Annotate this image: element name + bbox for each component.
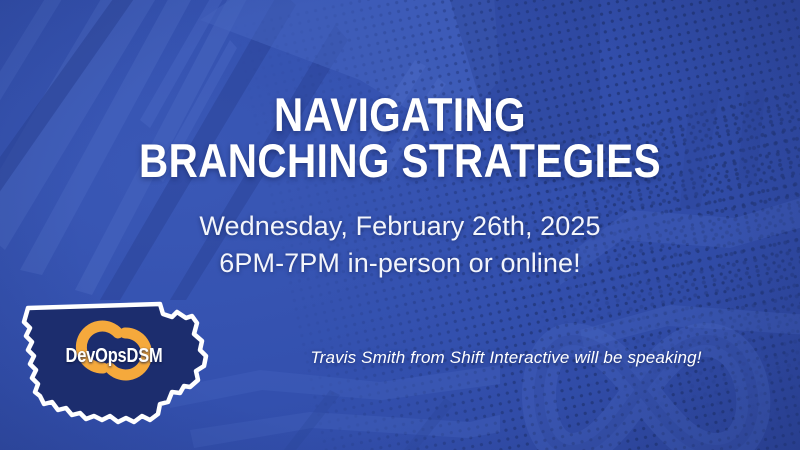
event-title-line-2: BRANCHING STRATEGIES xyxy=(56,138,744,184)
event-title: NAVIGATING BRANCHING STRATEGIES xyxy=(0,92,800,184)
speaker-text: Travis Smith from Shift Interactive will… xyxy=(230,348,782,368)
event-banner: NAVIGATING BRANCHING STRATEGIES Wednesda… xyxy=(0,0,800,450)
iowa-outline-shape xyxy=(24,304,206,422)
event-date: Wednesday, February 26th, 2025 xyxy=(0,208,800,245)
speaker-announcement: Travis Smith from Shift Interactive will… xyxy=(230,348,782,368)
devopsdsm-logo: DevOpsDSM xyxy=(14,292,214,440)
banner-content: NAVIGATING BRANCHING STRATEGIES Wednesda… xyxy=(0,0,800,450)
event-title-line-1: NAVIGATING xyxy=(56,92,744,138)
event-time-format: 6PM-7PM in-person or online! xyxy=(0,245,800,282)
event-datetime: Wednesday, February 26th, 2025 6PM-7PM i… xyxy=(0,208,800,281)
